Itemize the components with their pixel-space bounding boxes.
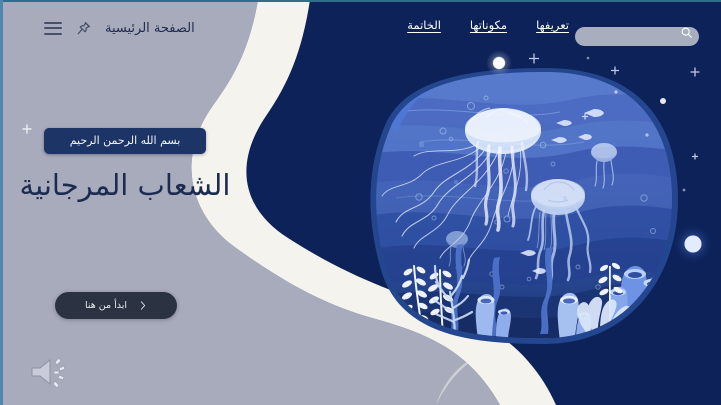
hamburger-line xyxy=(44,27,62,29)
header-left-group: الصفحة الرئيسية xyxy=(0,20,195,37)
nav-link-components[interactable]: مكوناتها xyxy=(470,18,507,32)
hamburger-line xyxy=(44,33,62,35)
slide-left-border xyxy=(0,0,3,405)
nav-link-definition[interactable]: تعريفها xyxy=(536,18,569,32)
main-nav: تعريفها مكوناتها الخاتمة xyxy=(407,18,569,32)
page-title: الشعاب المرجانية xyxy=(20,168,231,202)
search-input[interactable] xyxy=(575,27,699,46)
hero-text-block: بسم الله الرحمن الرحيم الشعاب المرجانية xyxy=(0,128,250,202)
presentation-slide: الصفحة الرئيسية تعريفها مكوناتها الخاتمة… xyxy=(0,0,721,405)
site-header: الصفحة الرئيسية تعريفها مكوناتها الخاتمة xyxy=(0,0,721,56)
speaker-icon[interactable] xyxy=(26,352,76,392)
search-container xyxy=(575,23,699,42)
home-link[interactable]: الصفحة الرئيسية xyxy=(105,21,195,36)
background-shapes xyxy=(0,0,721,405)
start-button-label: ابدأ من هنا xyxy=(85,300,127,311)
pin-icon[interactable] xyxy=(75,20,92,37)
start-button[interactable]: ابدأ من هنا xyxy=(55,292,177,319)
hamburger-icon[interactable] xyxy=(44,22,62,35)
basmala-badge: بسم الله الرحمن الرحيم xyxy=(44,128,207,154)
chevron-right-icon xyxy=(139,300,147,311)
hamburger-line xyxy=(44,22,62,24)
nav-link-conclusion[interactable]: الخاتمة xyxy=(407,18,441,32)
